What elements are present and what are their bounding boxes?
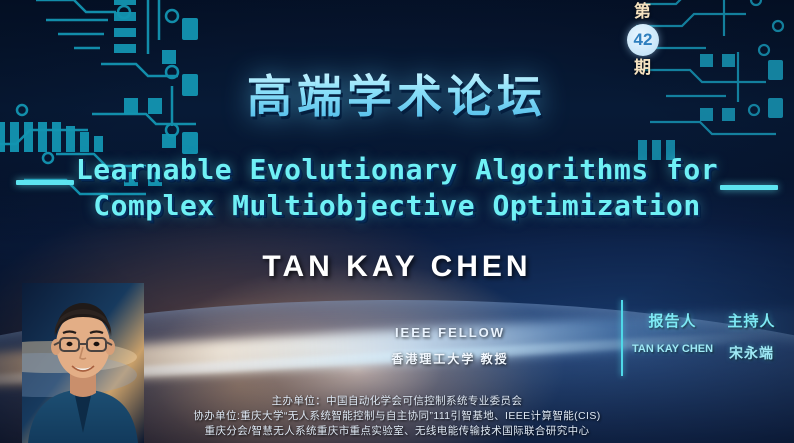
issue-number: 42 <box>627 24 659 56</box>
roles-divider <box>621 300 623 376</box>
footer-line-2: 协办单位:重庆大学“无人系统智能控制与自主协同”111引智基地、IEEE计算智能… <box>0 409 794 424</box>
page-title-english: Learnable Evolutionary Algorithms for Co… <box>0 152 794 224</box>
english-title-line-1: Learnable Evolutionary Algorithms for <box>0 152 794 188</box>
english-title-line-2: Complex Multiobjective Optimization <box>0 188 794 224</box>
forum-poster: 第 42 期 高端学术论坛 Learnable Evolutionary Alg… <box>0 0 794 443</box>
role-speaker-value: TAN KAY CHEN <box>632 343 713 355</box>
role-speaker-label: 报告人 <box>632 310 713 331</box>
speaker-honor: IEEE FELLOW <box>300 325 600 340</box>
role-host: 主持人 宋永端 <box>713 310 790 363</box>
footer-line-1: 主办单位：中国自动化学会可信控制系统专业委员会 <box>0 394 794 409</box>
speaker-name: TAN KAY CHEN <box>0 250 794 284</box>
issue-prefix-char: 第 <box>625 2 661 22</box>
roles-panel: 报告人 TAN KAY CHEN 主持人 宋永端 <box>632 310 790 363</box>
role-host-value: 宋永端 <box>713 343 790 363</box>
role-speaker: 报告人 TAN KAY CHEN <box>632 310 713 363</box>
page-title-chinese: 高端学术论坛 <box>0 60 794 125</box>
footer-line-3: 重庆分会/智慧无人系统重庆市重点实验室、无线电能传输技术国际联合研究中心 <box>0 424 794 439</box>
footer-organizers: 主办单位：中国自动化学会可信控制系统专业委员会 协办单位:重庆大学“无人系统智能… <box>0 394 794 439</box>
role-host-label: 主持人 <box>713 310 790 331</box>
speaker-affiliation: 香港理工大学 教授 <box>300 350 600 367</box>
